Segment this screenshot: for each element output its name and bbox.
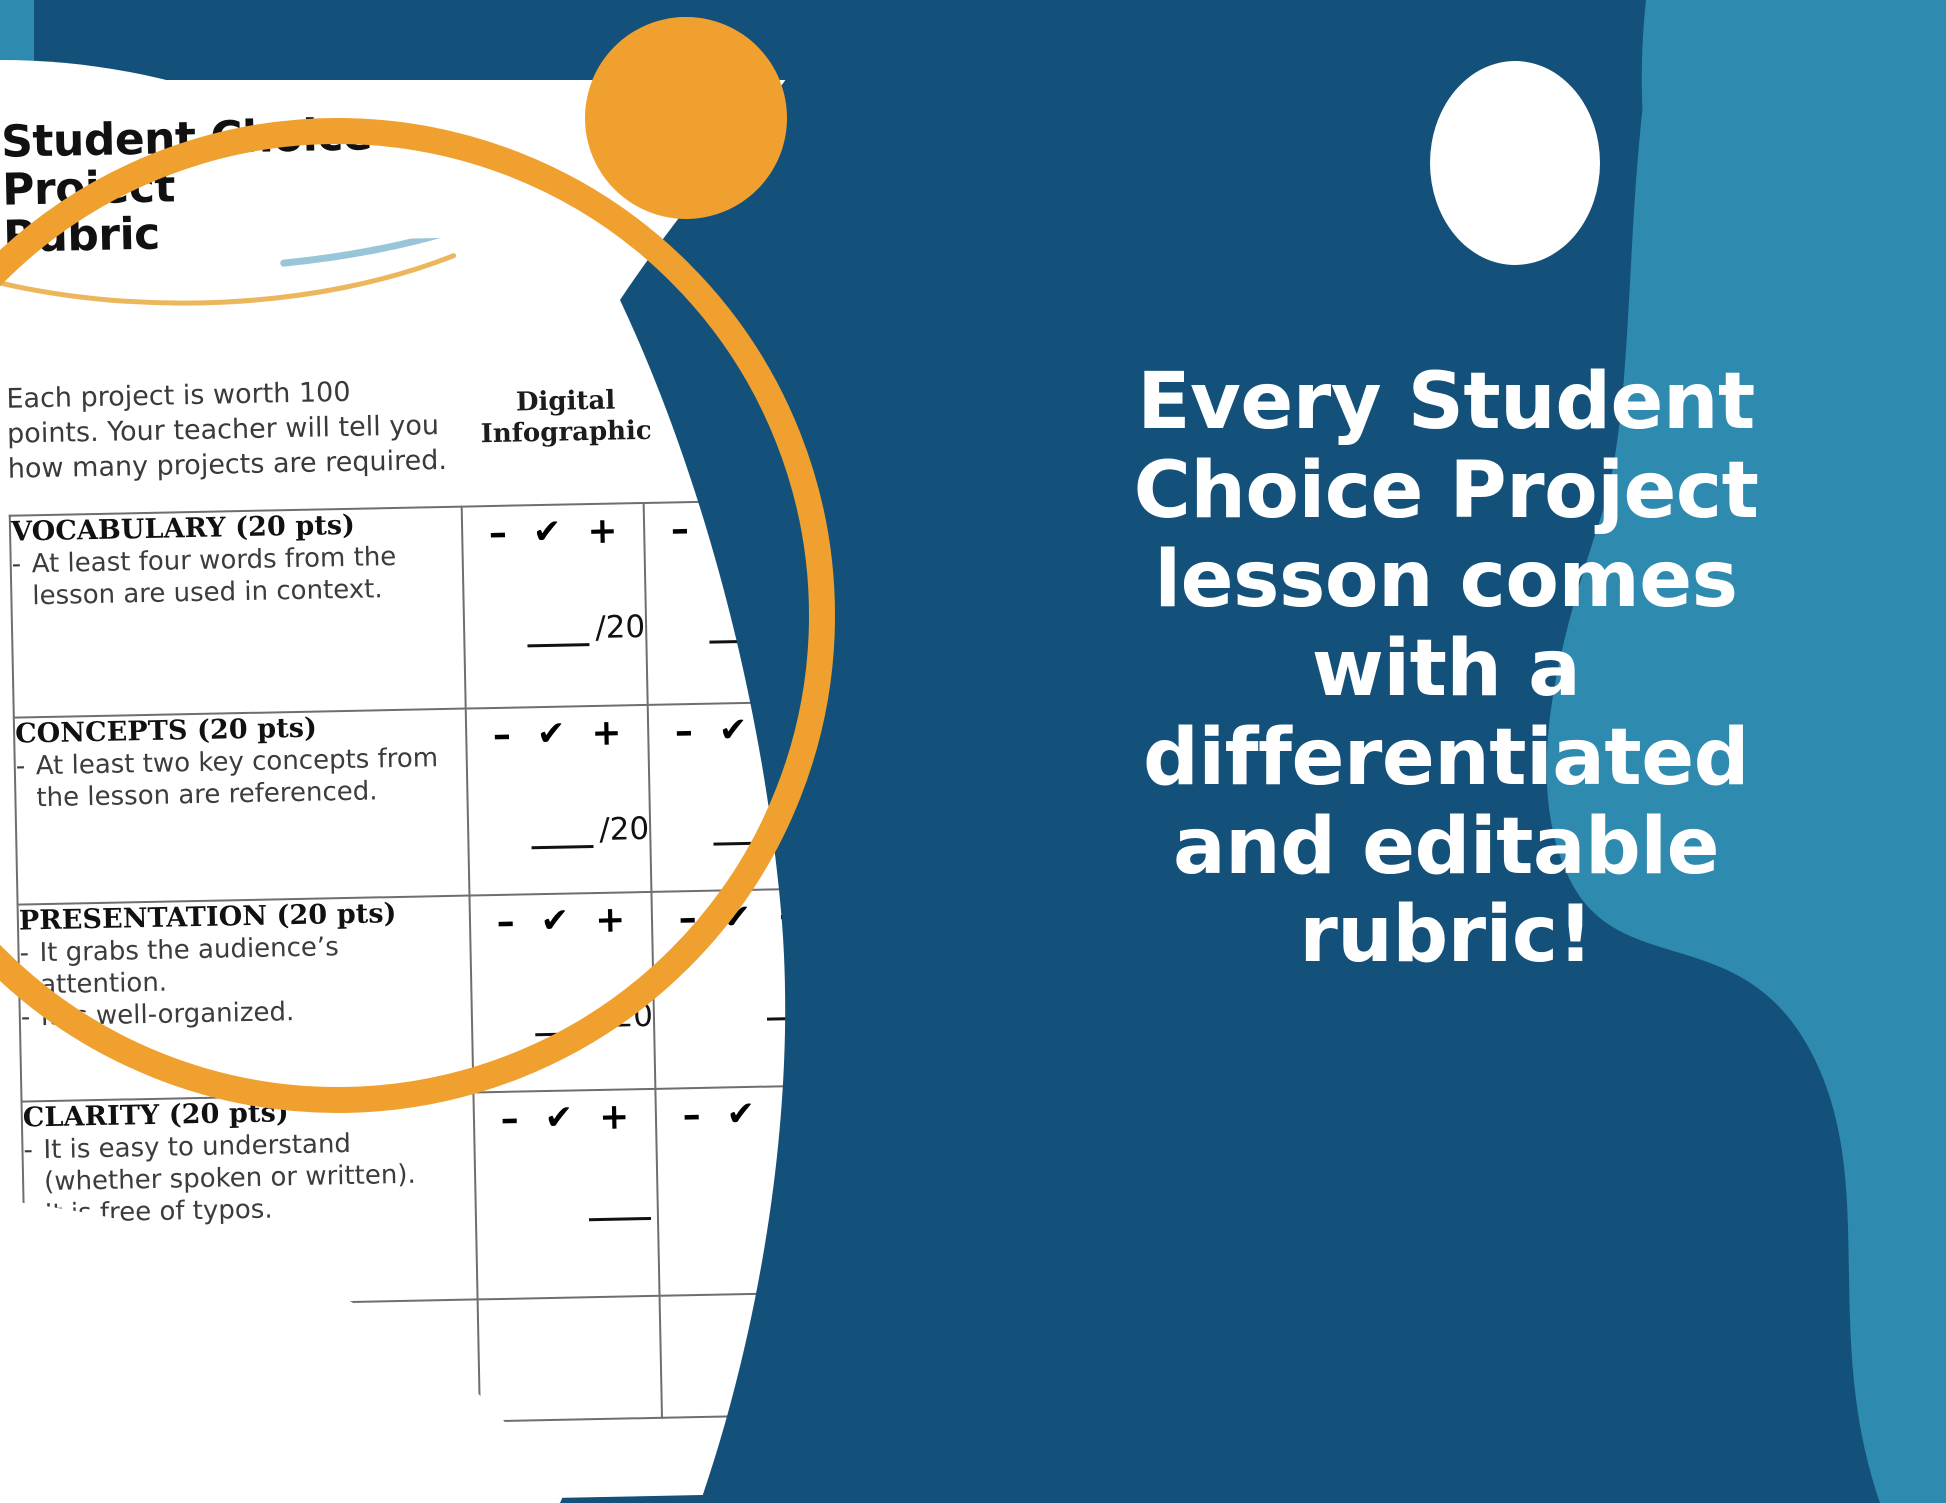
rating-marks[interactable]: – ✔ + [463,504,644,555]
score-blank[interactable] [589,1195,651,1221]
bullet-dash: - [15,751,36,815]
mark-plus[interactable]: + [781,1093,812,1135]
score-cell-digital-infographic[interactable]: – ✔ + [473,1089,659,1300]
bullet-dash: - [21,1002,42,1034]
score-blank[interactable] [531,823,593,849]
rubric-table: VOCABULARY (20 pts) - At least four word… [9,498,840,1431]
headline-line-3: lesson comes [946,536,1946,625]
mark-check[interactable]: ✔ [544,1098,573,1139]
table-row: ACCURACY (20 pts) [26,1292,840,1430]
mark-minus[interactable]: – [674,711,693,752]
bullet-dash: - [23,1135,44,1199]
table-row: CONCEPTS (20 pts) - At least two key con… [14,701,834,904]
criteria-list: - It is easy to understand (whether spok… [23,1126,475,1231]
score-entry[interactable]: /20 [647,605,828,645]
score-entry[interactable]: /20 [473,998,654,1038]
criteria-list: - At least two key concepts from the les… [15,742,466,814]
score-denominator: /20 [781,807,832,844]
score-denominator: /20 [777,605,828,642]
mark-check[interactable]: ✔ [540,901,569,942]
rating-marks[interactable]: – ✔ + [645,500,826,551]
intro-and-column-headers: Each project is worth 100 points. Your t… [6,361,840,486]
column-header-digital-infographic: Digital Infographic [476,368,656,450]
headline-line-1: Every Student [946,358,1946,447]
criteria-cell-vocabulary: VOCABULARY (20 pts) - At least four word… [10,506,466,717]
mark-check[interactable]: ✔ [718,710,747,751]
score-cell-tutorial[interactable]: – ✔ + /20 [648,701,834,892]
list-item-line-1: It is well-organized. [41,997,295,1032]
headline-line-6: and editable [946,803,1946,892]
score-denominator: /20 [599,811,650,848]
score-cell-digital-infographic[interactable]: – ✔ + /20 [469,892,655,1093]
score-entry[interactable]: /20 [651,807,832,847]
intro-paragraph: Each project is worth 100 points. Your t… [6,372,448,486]
mark-plus[interactable]: + [599,1096,630,1138]
rubric-document-card: Student Choice Project Rubric Each proje… [0,80,840,1503]
list-item: - It is easy to understand (whether spok… [23,1126,474,1198]
list-item: - At least two key concepts from the les… [15,742,466,814]
score-entry[interactable] [655,994,835,1023]
list-item-line-1: At least four words from the [31,542,396,579]
criteria-list: - At least four words from the lesson ar… [11,540,462,612]
criteria-cell-presentation: PRESENTATION (20 pts) - It grabs the aud… [18,895,474,1101]
list-item-line-1: It is easy to understand [43,1129,351,1165]
rating-marks[interactable]: – ✔ + [470,893,651,944]
bullet-dash: - [11,549,32,613]
score-entry[interactable]: /20 [469,811,650,851]
mark-plus[interactable]: + [595,899,626,941]
score-entry[interactable] [659,1191,839,1220]
bullet-dash: - [19,938,40,1002]
mark-check[interactable]: ✔ [726,1094,755,1135]
list-item-text: At least two key concepts from the lesso… [35,742,466,814]
table-row: CLARITY (20 pts) - It is easy to underst… [22,1085,840,1308]
mark-minus[interactable]: – [493,715,512,756]
mark-plus[interactable]: + [773,709,804,751]
score-cell-tutorial[interactable]: – ✔ + [651,888,837,1089]
score-cell-digital-infographic[interactable]: – ✔ + /20 [462,503,648,709]
score-entry[interactable]: /20 [465,609,646,649]
promo-headline: Every Student Choice Project lesson come… [946,358,1946,980]
bullet-dash: - [24,1199,45,1231]
headline-line-5: differentiated [946,714,1946,803]
table-row: PRESENTATION (20 pts) - It grabs the aud… [18,888,838,1101]
list-item-text: It is easy to understand (whether spoken… [43,1126,474,1198]
score-blank[interactable] [713,819,775,845]
mark-plus[interactable]: + [591,712,622,754]
mark-minus[interactable]: – [678,898,697,939]
criteria-cell-clarity: CLARITY (20 pts) - It is easy to underst… [22,1092,478,1308]
headline-line-4: with a [946,625,1946,714]
mark-plus[interactable]: + [769,507,800,549]
score-cell-digital-infographic[interactable] [478,1296,662,1422]
list-item-line-1: It grabs the audience’s [39,932,339,968]
mark-minus[interactable]: – [670,509,689,550]
list-item: - It grabs the audience’s attention. [19,929,470,1001]
mark-check[interactable]: ✔ [722,897,751,938]
white-ellipse [1430,61,1600,265]
score-denominator: /20 [595,609,646,646]
list-item-line-2: the lesson are referenced. [36,774,467,814]
mark-check[interactable]: ✔ [532,512,561,553]
criteria-cell-concepts: CONCEPTS (20 pts) - At least two key con… [14,708,470,904]
score-denominator: /20 [603,998,654,1035]
list-item-line-2: lesson are used in context. [32,572,463,612]
list-item-line-1: At least two key concepts from [35,743,438,781]
list-item: - At least four words from the lesson ar… [11,540,462,612]
score-cell-digital-infographic[interactable]: – ✔ + /20 [466,705,652,896]
score-blank[interactable] [709,617,771,643]
table-row: VOCABULARY (20 pts) - At least four word… [10,499,830,717]
mark-plus[interactable]: + [777,896,808,938]
rubric-title-line-1: Student Choice Project [1,109,373,215]
column-header-tutorial: Tuto [654,365,833,416]
list-item-text: At least four words from the lesson are … [31,540,462,612]
column-header-tutorial-line-1: Tuto [711,382,777,413]
rating-marks[interactable]: – ✔ + [652,889,833,940]
score-entry[interactable] [477,1195,657,1224]
intro-line-3: how many projects are required. [8,445,448,485]
mark-minus[interactable]: – [488,513,507,554]
mark-minus[interactable]: – [496,901,515,942]
mark-check[interactable]: ✔ [714,508,743,549]
rating-marks[interactable]: – ✔ + [649,702,830,753]
score-cell-tutorial[interactable] [660,1292,840,1418]
list-item-text: It grabs the audience’s attention. [39,929,470,1001]
rating-marks[interactable]: – ✔ + [474,1090,655,1141]
score-blank[interactable] [535,1010,597,1036]
promotional-graphic: Student Choice Project Rubric Each proje… [0,0,1946,1503]
mark-minus[interactable]: – [682,1095,701,1136]
column-header-digital-infographic-line-2: Infographic [480,416,652,449]
intro-line-2: points. Your teacher will tell you [7,410,439,450]
score-blank[interactable] [527,621,589,647]
score-blank[interactable] [770,1191,832,1217]
criteria-title: ACCURACY (20 pts) [27,1300,478,1340]
rating-marks[interactable]: – ✔ + [656,1086,837,1137]
score-cell-tutorial[interactable]: – ✔ + /20 [644,499,830,705]
headline-line-7: rubric! [946,891,1946,980]
mark-plus[interactable]: + [587,510,618,552]
criteria-cell-accuracy: ACCURACY (20 pts) [26,1299,480,1430]
rating-marks[interactable]: – ✔ + [467,706,648,757]
score-cell-tutorial[interactable]: – ✔ + [655,1085,840,1296]
rubric-page: Student Choice Project Rubric Each proje… [0,80,840,1503]
mark-minus[interactable]: – [500,1098,519,1139]
headline-line-2: Choice Project [946,447,1946,536]
criteria-list: - It grabs the audience’s attention. - [19,929,471,1034]
mark-check[interactable]: ✔ [537,714,566,755]
list-item-line-1: It is free of typos. [44,1195,272,1230]
decorative-swoosh [0,236,545,317]
column-header-digital-infographic-line-1: Digital [516,385,616,417]
score-blank[interactable] [767,994,829,1020]
intro-line-1: Each project is worth 100 [6,376,351,414]
